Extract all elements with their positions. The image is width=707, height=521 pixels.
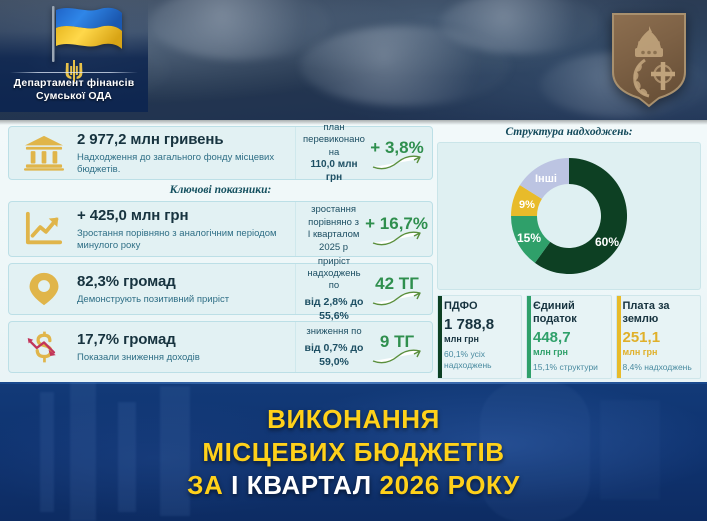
donut-label-9: 9%: [519, 199, 535, 211]
swoosh-up-arrow-icon: [370, 348, 424, 365]
card-subtext: Надходження до загального фонду місцевих…: [77, 152, 289, 176]
card-side-communities-decline: зниження по від 0,7% до 59,0% 9 ТГ: [296, 322, 432, 372]
card-body-total-revenue: 2 977,2 млн гривень Надходження до загал…: [75, 131, 289, 176]
sumy-oblast-coat-of-arms-icon: [607, 8, 691, 110]
banner-line-3-prefix: ЗА: [187, 470, 231, 500]
card-side-metric: + 3,8%: [366, 138, 428, 169]
card-main-total-revenue: 2 977,2 млн гривень Надходження до загал…: [9, 127, 296, 179]
card-body-communities-decline: 17,7% громад Показали зниження доходів: [75, 331, 289, 364]
tax-value: 448,7: [533, 329, 607, 347]
tax-card-single-tax[interactable]: .tax-card[data-name="tax-card-single-tax…: [526, 295, 612, 379]
side-text-line-1: приріст надходжень по: [302, 256, 366, 292]
card-side-growth: зростання порівняно з І кварталом 2025 р…: [296, 202, 432, 256]
card-side-metric: 9 ТГ: [366, 332, 428, 363]
swoosh-up-arrow-icon: [370, 154, 424, 171]
card-side-communities-growth: приріст надходжень по від 2,8% до 55,6% …: [296, 264, 432, 314]
tax-unit: млн грн: [623, 347, 697, 358]
tax-name: ПДФО: [444, 300, 517, 313]
tax-card-pdfo[interactable]: .tax-card[data-name="tax-card-pdfo"]::be…: [437, 295, 522, 379]
tax-value: 251,1: [623, 329, 697, 347]
tax-note: 15,1% структури: [533, 362, 607, 373]
card-body-growth: + 425,0 млн грн Зростання порівняно з ан…: [75, 207, 289, 252]
donut-label-60: 60%: [595, 235, 619, 249]
department-logo-plaque: Департамент фінансів Сумської ОДА: [0, 0, 148, 112]
side-text-line-1: план перевиконано: [302, 122, 366, 147]
card-subtext: Зростання порівняно з аналогічним період…: [77, 228, 289, 252]
stat-card-communities-decline[interactable]: 17,7% громад Показали зниження доходів з…: [8, 321, 433, 373]
structure-title: Структура надходжень:: [437, 124, 701, 142]
card-side-metric: + 16,7%: [365, 214, 428, 245]
card-main-communities-decline: 17,7% громад Показали зниження доходів: [9, 322, 296, 372]
tax-unit: млн грн: [533, 347, 607, 358]
title-banner: ВИКОНАННЯ МІСЦЕВИХ БЮДЖЕТІВ ЗА І КВАРТАЛ…: [0, 382, 707, 521]
tax-name: Плата за землю: [623, 300, 697, 326]
header-sky-background: Департамент фінансів Сумської ОДА: [0, 0, 707, 120]
department-name: Департамент фінансів Сумської ОДА: [0, 77, 148, 103]
key-indicators-caption: Ключові показники:: [8, 184, 433, 196]
donut-label-other: Інші: [535, 173, 557, 185]
banner-line-3-suffix: 2026 РОКУ: [372, 470, 520, 500]
card-main-communities-growth: 82,3% громад Демонструють позитивний при…: [9, 264, 296, 314]
tax-note: 60,1% усіх надходжень: [444, 349, 517, 370]
banner-line-3: ЗА І КВАРТАЛ 2026 РОКУ: [187, 470, 520, 500]
card-subtext: Демонструють позитивний приріст: [77, 294, 289, 306]
card-side-total-revenue: план перевиконано на 110,0 млн грн + 3,8…: [296, 127, 432, 179]
card-main-growth: + 425,0 млн грн Зростання порівняно з ан…: [9, 202, 296, 256]
card-headline: 2 977,2 млн гривень: [77, 131, 289, 149]
side-text-period: І кварталом 2025 р: [302, 229, 365, 254]
stat-card-total-revenue[interactable]: 2 977,2 млн гривень Надходження до загал…: [8, 126, 433, 180]
card-side-text: план перевиконано на 110,0 млн грн: [302, 122, 366, 185]
tax-unit: млн грн: [444, 334, 517, 345]
side-text-line-1: зниження по: [302, 326, 366, 338]
card-headline: 17,7% громад: [77, 331, 289, 349]
ukraine-flag-icon: [34, 4, 126, 64]
card-subtext: Показали зниження доходів: [77, 352, 289, 364]
donut-label-15: 15%: [517, 231, 541, 245]
logo-divider: [10, 72, 138, 73]
card-side-text: зростання порівняно з І кварталом 2025 р: [302, 204, 365, 254]
bank-building-icon: [13, 131, 75, 175]
tax-card-land-payment[interactable]: .tax-card[data-name="tax-card-land-payme…: [616, 295, 702, 379]
card-body-communities-growth: 82,3% громад Демонструють позитивний при…: [75, 273, 289, 306]
department-line-2: Сумської ОДА: [0, 90, 148, 103]
donut-svg: 60% 15% 9% Інші: [489, 146, 649, 286]
tax-value: 1 788,8: [444, 316, 517, 334]
map-pin-icon: [13, 268, 75, 310]
tax-name: Єдиний податок: [533, 300, 607, 326]
side-text-line-1: зростання: [302, 204, 365, 217]
tax-breakdown-row: .tax-card[data-name="tax-card-pdfo"]::be…: [437, 295, 701, 379]
card-side-text: приріст надходжень по від 2,8% до 55,6%: [302, 256, 366, 323]
side-text-line-2: порівняно з: [302, 217, 365, 230]
card-headline: + 425,0 млн грн: [77, 207, 289, 225]
card-side-metric: 42 ТГ: [366, 274, 428, 305]
card-side-text: зниження по від 0,7% до 59,0%: [302, 326, 366, 369]
infographic-root: Департамент фінансів Сумської ОДА: [0, 0, 707, 521]
stat-card-communities-growth[interactable]: 82,3% громад Демонструють позитивний при…: [8, 263, 433, 315]
swoosh-up-arrow-icon: [370, 230, 424, 247]
dollar-decline-icon: [13, 326, 75, 368]
structure-column: Структура надходжень: 60% 15% 9% Інші: [437, 124, 701, 379]
side-text-amount: 110,0 млн грн: [302, 159, 366, 184]
side-text-line-2: від 0,7% до 59,0%: [302, 341, 366, 369]
banner-line-3-quarter: І КВАРТАЛ: [231, 470, 372, 500]
side-text-line-2: від 2,8% до 55,6%: [302, 295, 366, 323]
side-text-line-2: на: [302, 147, 366, 160]
banner-line-1: ВИКОНАННЯ: [267, 404, 440, 434]
swoosh-up-arrow-icon: [370, 290, 424, 307]
banner-line-2: МІСЦЕВИХ БЮДЖЕТІВ: [202, 437, 504, 467]
stat-card-growth[interactable]: + 425,0 млн грн Зростання порівняно з ан…: [8, 201, 433, 257]
department-line-1: Департамент фінансів: [0, 77, 148, 90]
tax-note: 8,4% надходжень: [623, 362, 697, 373]
banner-text-block: ВИКОНАННЯ МІСЦЕВИХ БЮДЖЕТІВ ЗА І КВАРТАЛ…: [0, 382, 707, 521]
card-headline: 82,3% громад: [77, 273, 289, 291]
revenue-structure-donut-chart[interactable]: 60% 15% 9% Інші: [437, 142, 701, 290]
growth-chart-icon: [13, 206, 75, 252]
